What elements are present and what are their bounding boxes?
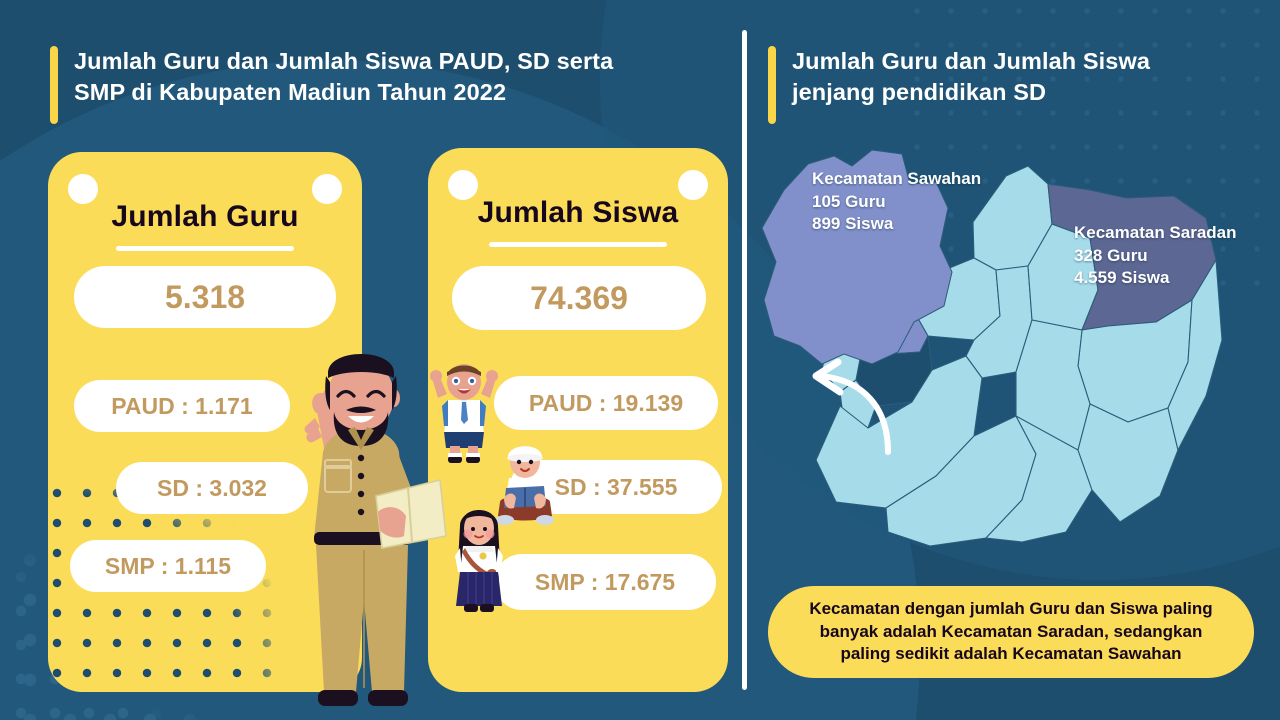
title-accent-bar xyxy=(768,46,776,124)
student-boy-illustration xyxy=(428,356,500,464)
right-panel-title: Jumlah Guru dan Jumlah Siswa jenjang pen… xyxy=(768,46,1238,124)
map-caption-box: Kecamatan dengan jumlah Guru dan Siswa p… xyxy=(768,586,1254,678)
panel-divider xyxy=(742,30,747,690)
district-map[interactable]: Kecamatan Sawahan 105 Guru 899 Siswa Kec… xyxy=(760,140,1266,572)
card-heading-siswa: Jumlah Siswa xyxy=(428,196,728,230)
stat-guru-smp: SMP : 1.115 xyxy=(70,540,266,592)
card-underline xyxy=(116,246,294,251)
stat-siswa-paud: PAUD : 19.139 xyxy=(494,376,718,430)
map-label-saradan: Kecamatan Saradan 328 Guru 4.559 Siswa xyxy=(1074,222,1237,290)
left-panel-title: Jumlah Guru dan Jumlah Siswa PAUD, SD se… xyxy=(50,46,710,124)
map-label-sawahan: Kecamatan Sawahan 105 Guru 899 Siswa xyxy=(812,168,981,236)
card-heading-guru: Jumlah Guru xyxy=(48,200,362,234)
map-district xyxy=(1078,404,1178,522)
page-title-left: Jumlah Guru dan Jumlah Siswa PAUD, SD se… xyxy=(74,46,613,109)
map-caption-text: Kecamatan dengan jumlah Guru dan Siswa p… xyxy=(809,598,1212,666)
student-girl-illustration xyxy=(448,500,510,618)
stat-total-siswa: 74.369 xyxy=(452,266,706,330)
stat-siswa-smp: SMP : 17.675 xyxy=(494,554,716,610)
card-underline xyxy=(489,242,667,247)
stat-guru-paud: PAUD : 1.171 xyxy=(74,380,290,432)
teacher-illustration xyxy=(268,300,453,720)
page-title-right: Jumlah Guru dan Jumlah Siswa jenjang pen… xyxy=(792,46,1150,109)
title-accent-bar xyxy=(50,46,58,124)
